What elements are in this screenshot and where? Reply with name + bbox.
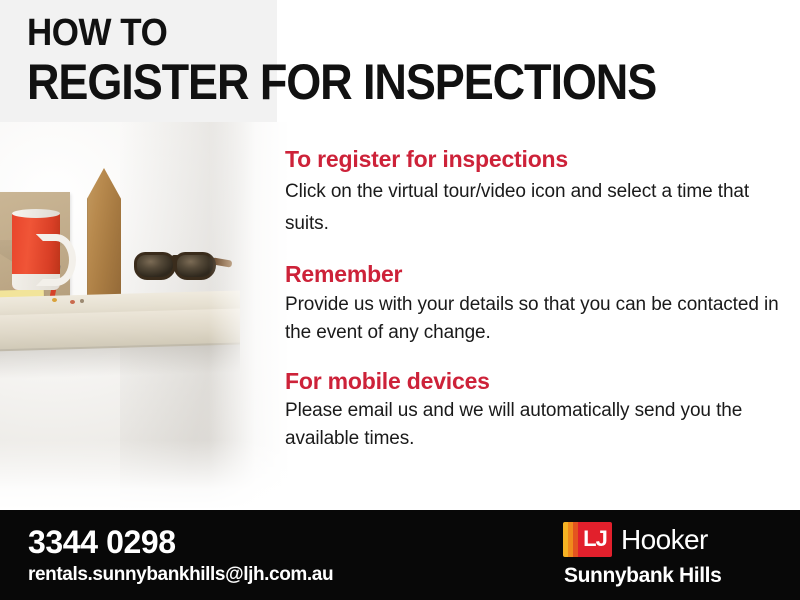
lj-hooker-logo-icon: LJ — [563, 522, 612, 557]
logo-red-block: LJ — [578, 522, 612, 557]
logo-monogram-text: LJ — [578, 522, 612, 557]
instruction-block-mobile: For mobile devices Please email us and w… — [285, 367, 785, 453]
photo-bottom-fade — [0, 440, 290, 510]
page-title-line-2: REGISTER FOR INSPECTIONS — [27, 56, 656, 109]
page-title: HOW TO REGISTER FOR INSPECTIONS — [27, 14, 726, 108]
brand-office-name: Sunnybank Hills — [564, 565, 782, 586]
brand-lockup: LJ Hooker Sunnybank Hills — [562, 522, 782, 586]
poster-canvas: HOW TO REGISTER FOR INSPECTIONS To regis… — [0, 0, 800, 600]
instruction-body-register: Click on the virtual tour/video icon and… — [285, 176, 785, 241]
contact-phone-number[interactable]: 3344 0298 — [28, 526, 176, 558]
brand-logo-row: LJ Hooker — [563, 522, 782, 557]
instruction-body-mobile: Please email us and we will automaticall… — [285, 397, 785, 452]
page-title-line-1: HOW TO — [27, 14, 670, 54]
footer-bar: 3344 0298 rentals.sunnybankhills@ljh.com… — [0, 510, 800, 600]
instruction-heading-remember: Remember — [285, 260, 785, 289]
instruction-block-register: To register for inspections Click on the… — [285, 145, 785, 240]
shelf-still-life-photo — [0, 122, 290, 510]
instruction-body-remember: Provide us with your details so that you… — [285, 291, 785, 346]
instruction-heading-register: To register for inspections — [285, 145, 785, 174]
contact-email-address[interactable]: rentals.sunnybankhills@ljh.com.au — [28, 565, 333, 584]
instructions-list: To register for inspections Click on the… — [285, 145, 785, 453]
instruction-block-remember: Remember Provide us with your details so… — [285, 260, 785, 346]
instruction-heading-mobile: For mobile devices — [285, 367, 785, 396]
brand-name-text: Hooker — [621, 526, 708, 554]
